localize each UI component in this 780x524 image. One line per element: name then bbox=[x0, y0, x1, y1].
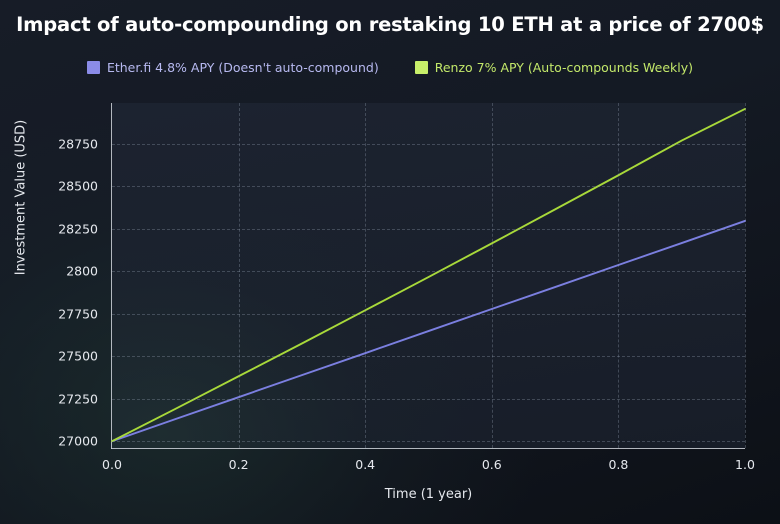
chart-title: Impact of auto-compounding on restaking … bbox=[0, 13, 780, 36]
gridline-vertical bbox=[492, 103, 493, 448]
legend-swatch-renzo bbox=[415, 61, 428, 74]
legend-label-etherfi: Ether.fi 4.8% APY (Doesn't auto-compound… bbox=[107, 60, 379, 75]
plot-area bbox=[112, 103, 745, 448]
gridline-horizontal bbox=[112, 441, 745, 442]
x-tick-label: 0.0 bbox=[102, 457, 122, 472]
legend-swatch-etherfi bbox=[87, 61, 100, 74]
series-layer bbox=[112, 103, 745, 448]
series-line-etherfi bbox=[112, 221, 745, 441]
gridline-vertical bbox=[239, 103, 240, 448]
gridline-horizontal bbox=[112, 144, 745, 145]
x-tick-label: 0.6 bbox=[482, 457, 502, 472]
x-tick-label: 0.4 bbox=[355, 457, 375, 472]
gridline-horizontal bbox=[112, 271, 745, 272]
y-tick-label: 27750 bbox=[0, 306, 98, 321]
y-axis-label: Investment Value (USD) bbox=[14, 108, 29, 288]
legend-item-renzo: Renzo 7% APY (Auto-compounds Weekly) bbox=[415, 60, 693, 75]
x-tick-label: 0.8 bbox=[608, 457, 628, 472]
y-tick-label: 27250 bbox=[0, 391, 98, 406]
gridline-horizontal bbox=[112, 314, 745, 315]
gridline-vertical bbox=[618, 103, 619, 448]
x-axis-spine bbox=[111, 448, 745, 449]
y-tick-label: 27000 bbox=[0, 434, 98, 449]
legend-item-etherfi: Ether.fi 4.8% APY (Doesn't auto-compound… bbox=[87, 60, 379, 75]
legend-label-renzo: Renzo 7% APY (Auto-compounds Weekly) bbox=[435, 60, 693, 75]
x-tick-label: 1.0 bbox=[735, 457, 755, 472]
x-tick-label: 0.2 bbox=[229, 457, 249, 472]
gridline-horizontal bbox=[112, 399, 745, 400]
chart-legend: Ether.fi 4.8% APY (Doesn't auto-compound… bbox=[0, 60, 780, 75]
chart-canvas: Impact of auto-compounding on restaking … bbox=[0, 0, 780, 524]
gridline-horizontal bbox=[112, 229, 745, 230]
y-tick-label: 27500 bbox=[0, 349, 98, 364]
gridline-vertical bbox=[365, 103, 366, 448]
series-line-renzo bbox=[112, 109, 745, 441]
gridline-vertical bbox=[745, 103, 746, 448]
x-axis-label: Time (1 year) bbox=[112, 487, 745, 502]
gridline-horizontal bbox=[112, 186, 745, 187]
gridline-horizontal bbox=[112, 356, 745, 357]
